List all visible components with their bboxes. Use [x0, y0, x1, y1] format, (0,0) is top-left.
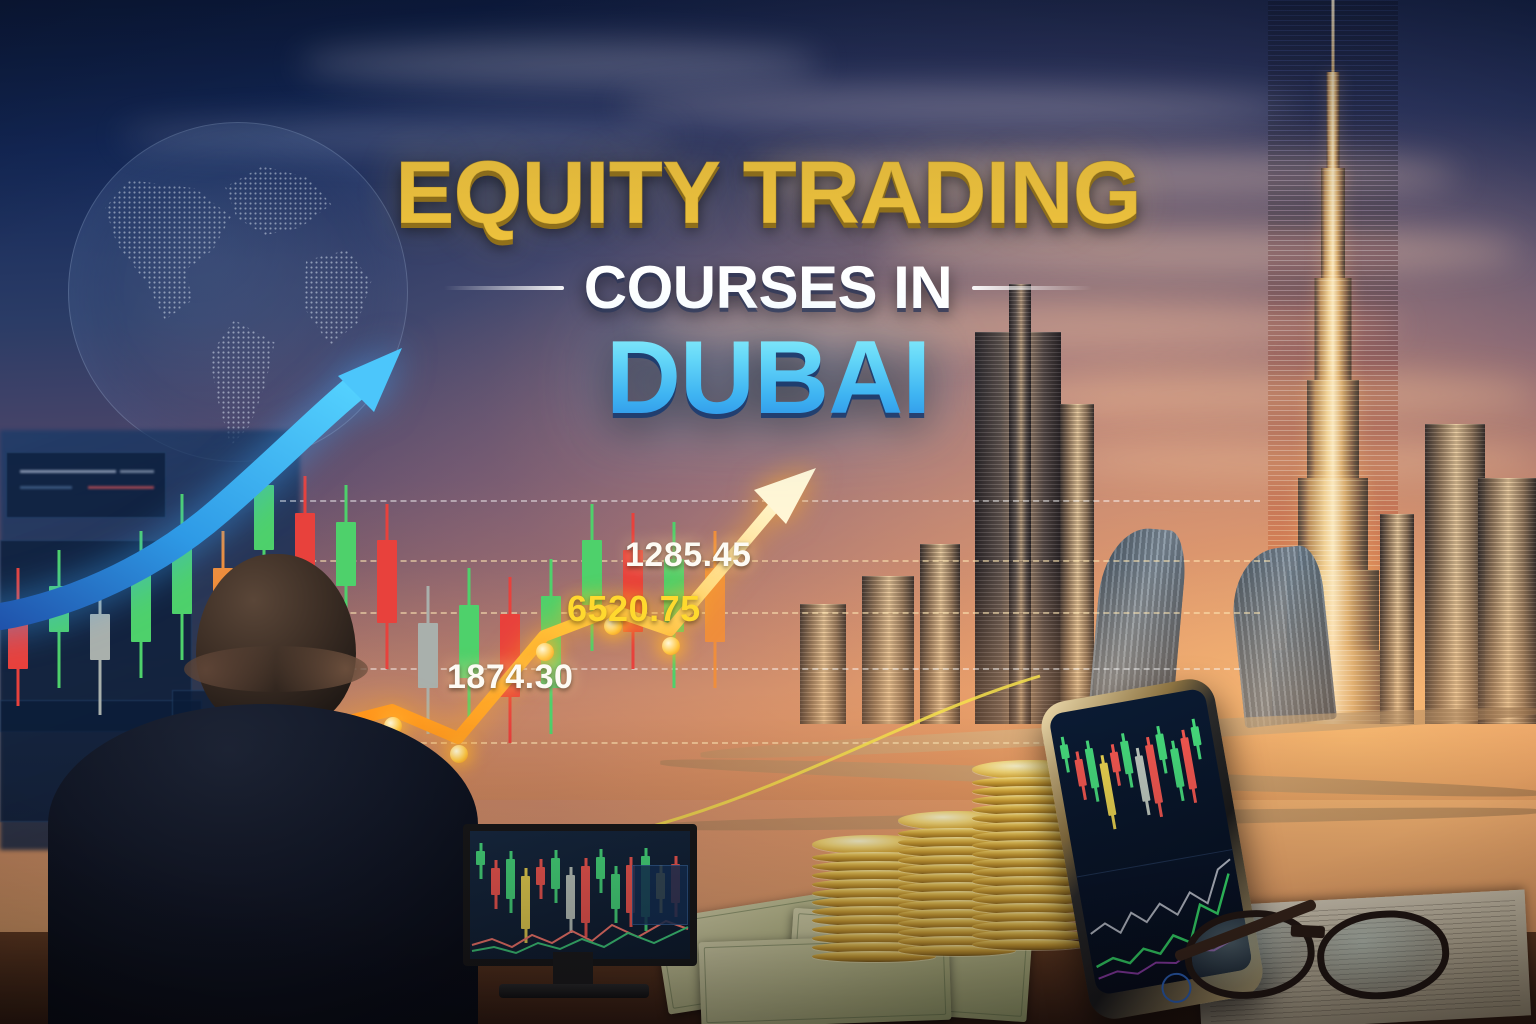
monitor-stand	[553, 952, 593, 986]
candle-body	[1120, 741, 1134, 775]
divider-rule-left	[444, 286, 564, 290]
candle-body	[476, 851, 485, 865]
headline-line-2: COURSES IN	[584, 253, 952, 322]
candle-body	[566, 875, 575, 919]
monitor-screen	[463, 824, 697, 966]
candle-body	[1074, 759, 1087, 787]
candlestick	[1189, 718, 1204, 760]
candle-body	[1085, 748, 1100, 789]
candle-body	[506, 859, 515, 899]
candlestick	[596, 849, 605, 893]
candlestick	[506, 851, 515, 913]
glasses-bridge	[1291, 924, 1326, 938]
trader-ears	[184, 646, 368, 692]
headline-block: EQUITY TRADING COURSES IN DUBAI	[0, 150, 1536, 430]
candlestick	[536, 859, 545, 899]
candle-body	[536, 867, 545, 885]
trader-silhouette	[48, 554, 478, 1024]
candle-body	[611, 874, 620, 909]
trader-suit	[48, 704, 478, 1024]
monitor-side-panel	[632, 865, 688, 925]
candle-body	[491, 868, 500, 895]
candle-body	[596, 857, 605, 879]
banner-canvas: 1285.45 6520.75 1874.30 EQUITY TRADING C…	[0, 0, 1536, 1024]
candle-body	[1060, 744, 1070, 759]
candlestick	[1058, 736, 1072, 773]
headline-line-2-row: COURSES IN	[0, 253, 1536, 322]
candlestick	[551, 850, 560, 903]
gold-coin	[972, 939, 1090, 950]
candle-body	[1110, 752, 1121, 773]
divider-rule-right	[972, 286, 1092, 290]
headline-line-3: DUBAI	[0, 326, 1536, 430]
candlestick	[491, 860, 500, 909]
desktop-monitor	[455, 818, 691, 1008]
candle-body	[551, 858, 560, 889]
candle-body	[1155, 733, 1167, 760]
candle-body	[1190, 726, 1201, 746]
headline-line-1: EQUITY TRADING	[0, 150, 1536, 235]
monitor-base	[499, 984, 649, 998]
candlestick	[476, 843, 485, 879]
glasses-lens-left	[1181, 905, 1318, 1004]
